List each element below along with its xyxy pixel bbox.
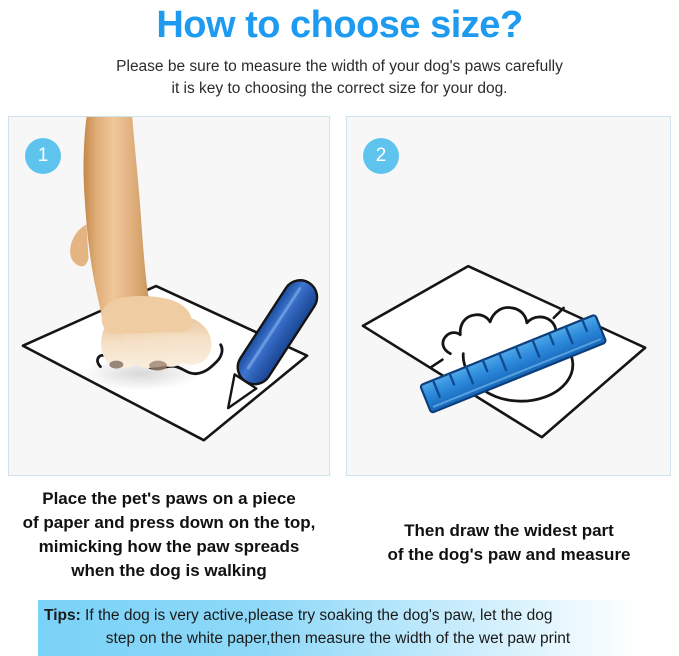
dog-dewclaw [70, 224, 88, 266]
size-guide-page: How to choose size? Please be sure to me… [0, 0, 679, 656]
step-badge-2: 2 [363, 138, 399, 174]
scene-paw-on-paper [9, 117, 329, 475]
tips-line-1: Tips: If the dog is very active,please t… [42, 604, 634, 627]
caption-1-line-1: Place the pet's paws on a piece [6, 487, 332, 511]
panel-step-1: 1 [8, 116, 330, 476]
caption-1-line-2: of paper and press down on the top, [6, 511, 332, 535]
tips-banner: Tips: If the dog is very active,please t… [38, 600, 638, 656]
tips-line-1-text: If the dog is very active,please try soa… [81, 607, 553, 624]
caption-step-1: Place the pet's paws on a piece of paper… [6, 487, 332, 584]
paw-pen-illustration [9, 117, 329, 475]
ruler-illustration [347, 117, 670, 475]
step-badge-1: 1 [25, 138, 61, 174]
subtitle-line-1: Please be sure to measure the width of y… [40, 56, 640, 78]
panel-step-2: 2 [346, 116, 671, 476]
caption-2-line-1: Then draw the widest part [346, 519, 672, 543]
page-subtitle: Please be sure to measure the width of y… [40, 56, 640, 101]
caption-step-2: Then draw the widest part of the dog's p… [346, 519, 672, 567]
scene-paw-outline-ruler [347, 117, 670, 475]
subtitle-line-2: it is key to choosing the correct size f… [40, 78, 640, 100]
header: How to choose size? Please be sure to me… [0, 0, 679, 101]
caption-2-line-2: of the dog's paw and measure [346, 543, 672, 567]
illustration-panels: 1 [0, 116, 679, 476]
tips-label: Tips: [44, 607, 81, 624]
page-title: How to choose size? [0, 4, 679, 48]
caption-1-line-4: when the dog is walking [6, 559, 332, 583]
captions: Place the pet's paws on a piece of paper… [0, 487, 679, 587]
tips-line-2: step on the white paper,then measure the… [42, 627, 634, 650]
caption-1-line-3: mimicking how the paw spreads [6, 535, 332, 559]
